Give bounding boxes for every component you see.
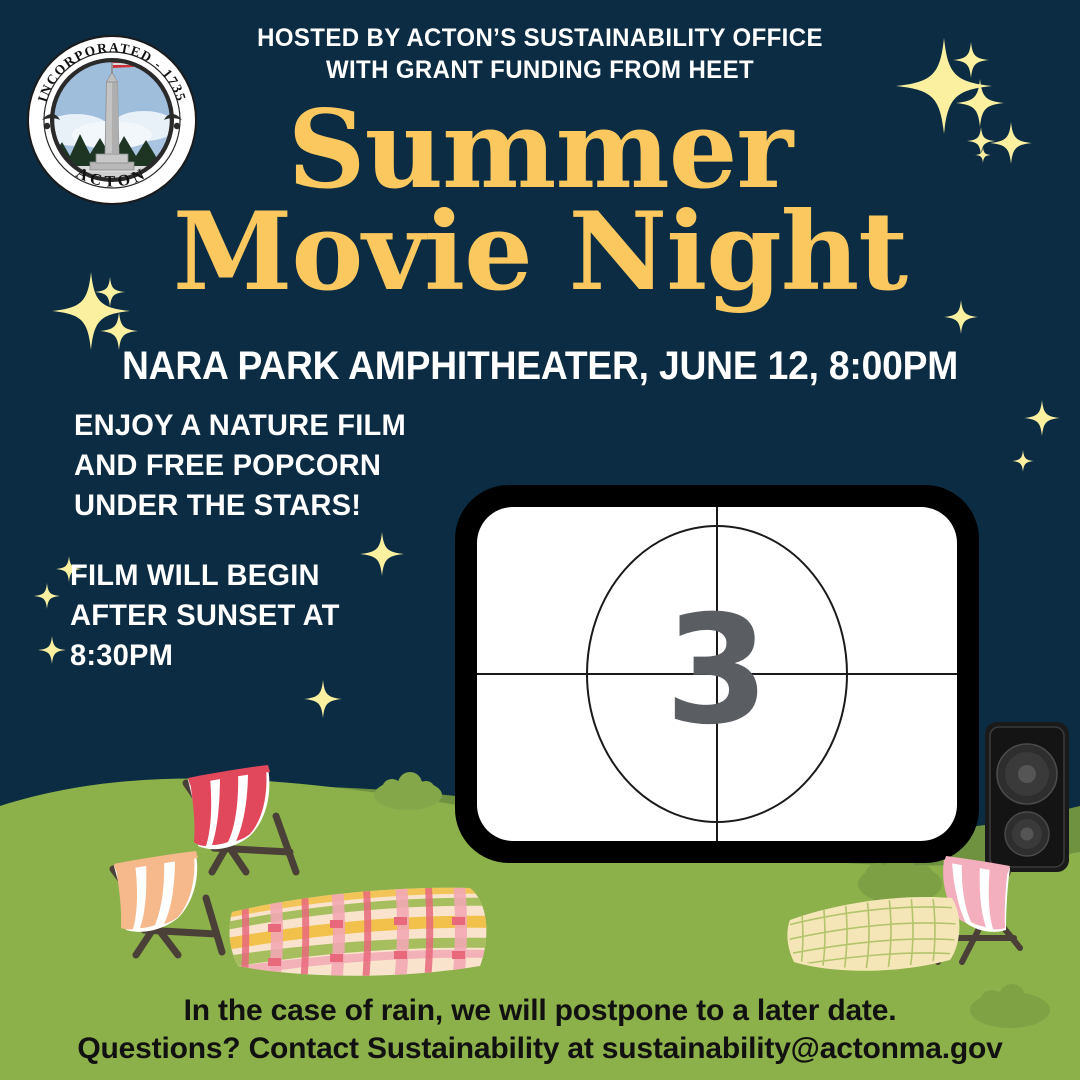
body-line: UNDER THE STARS!	[74, 486, 406, 526]
countdown-number: 3	[477, 596, 957, 746]
screen-surface: 3	[477, 507, 957, 841]
venue-datetime-line: NARA PARK AMPHITHEATER, JUNE 12, 8:00PM	[38, 344, 1042, 389]
footer-line-2: Questions? Contact Sustainability at sus…	[0, 1030, 1080, 1068]
body-block-film-start: FILM WILL BEGIN AFTER SUNSET AT 8:30PM	[70, 556, 340, 676]
title-line-1: Summer	[0, 98, 1080, 204]
body-line: 8:30PM	[70, 636, 340, 676]
title-line-2: Movie Night	[0, 200, 1080, 306]
movie-screen-icon: 3	[455, 485, 979, 863]
body-block-enjoy: ENJOY A NATURE FILM AND FREE POPCORN UND…	[74, 406, 406, 526]
hosted-line-1: HOSTED BY ACTON’S SUSTAINABILITY OFFICE	[22, 22, 1059, 54]
poster-canvas: INCORPORATED - 1735 ACTON HOSTED BY ACTO…	[0, 0, 1080, 1080]
body-line: AFTER SUNSET AT	[70, 596, 340, 636]
body-line: FILM WILL BEGIN	[70, 556, 340, 596]
hosted-by-header: HOSTED BY ACTON’S SUSTAINABILITY OFFICE …	[22, 22, 1059, 86]
page-title: Summer Movie Night	[0, 98, 1080, 306]
body-line: AND FREE POPCORN	[74, 446, 406, 486]
footer-note: In the case of rain, we will postpone to…	[0, 992, 1080, 1068]
footer-line-1: In the case of rain, we will postpone to…	[0, 992, 1080, 1030]
hosted-line-2: WITH GRANT FUNDING FROM HEET	[22, 54, 1059, 86]
speaker-icon	[985, 722, 1069, 872]
body-line: ENJOY A NATURE FILM	[74, 406, 406, 446]
